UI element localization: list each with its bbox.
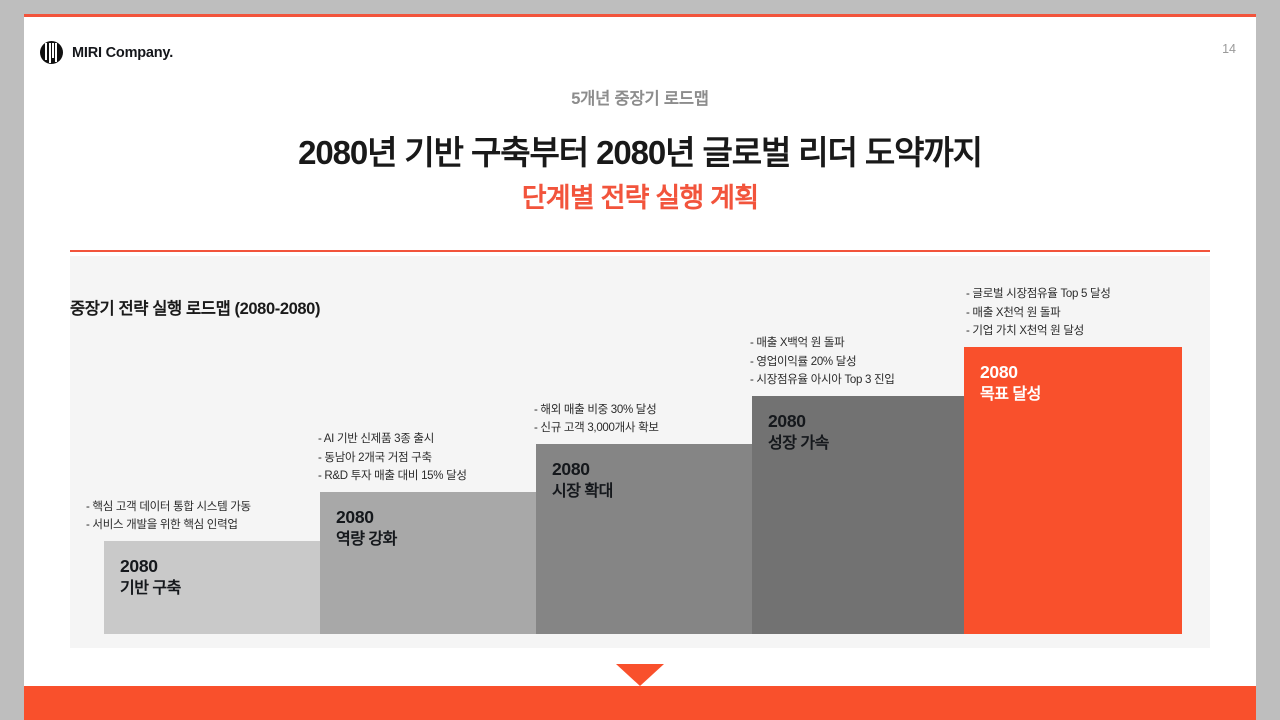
roadmap-bar-4[interactable]: 2080 성장 가속 xyxy=(752,396,970,634)
bar-2-label: 2080 역량 강화 xyxy=(336,506,397,550)
top-accent-rule xyxy=(24,14,1256,17)
roadmap-bar-1[interactable]: 2080 기반 구축 xyxy=(104,541,322,634)
bar-3-year: 2080 xyxy=(552,458,613,481)
slide-title: 2080년 기반 구축부터 2080년 글로벌 리더 도약까지 xyxy=(24,126,1256,174)
slide-canvas: MIRI Company. 14 5개년 중장기 로드맵 2080년 기반 구축… xyxy=(24,14,1256,720)
footer-notch xyxy=(616,664,664,686)
bar-3-name: 시장 확대 xyxy=(552,481,613,502)
bar-4-note-1: - 매출 X백억 원 돌파 xyxy=(750,334,895,353)
bar-3-note-2: - 신규 고객 3,000개사 확보 xyxy=(534,419,659,438)
bar-5-note-1: - 글로벌 시장점유율 Top 5 달성 xyxy=(966,285,1111,304)
bar-1-name: 기반 구축 xyxy=(120,578,181,599)
bar-5-notes: - 글로벌 시장점유율 Top 5 달성 - 매출 X천억 원 돌파 - 기업 … xyxy=(966,285,1111,341)
bar-3-label: 2080 시장 확대 xyxy=(552,458,613,502)
bar-1-note-2: - 서비스 개발을 위한 핵심 인력업 xyxy=(86,516,251,535)
roadmap-bar-2[interactable]: 2080 역량 강화 xyxy=(320,492,538,634)
bar-2-note-3: - R&D 투자 매출 대비 15% 달성 xyxy=(318,467,467,486)
roadmap-bar-3[interactable]: 2080 시장 확대 xyxy=(536,444,754,634)
bar-1-label: 2080 기반 구축 xyxy=(120,555,181,599)
bar-4-name: 성장 가속 xyxy=(768,433,829,454)
bar-4-notes: - 매출 X백억 원 돌파 - 영업이익률 20% 달성 - 시장점유율 아시아… xyxy=(750,334,895,390)
bar-5-note-2: - 매출 X천억 원 돌파 xyxy=(966,304,1111,323)
bar-1-note-1: - 핵심 고객 데이터 통합 시스템 가동 xyxy=(86,498,251,517)
bar-5-note-3: - 기업 가치 X천억 원 달성 xyxy=(966,322,1111,341)
bar-3-note-1: - 해외 매출 비중 30% 달성 xyxy=(534,401,659,420)
bar-2-note-1: - AI 기반 신제품 3종 출시 xyxy=(318,430,467,449)
brand-name: MIRI Company. xyxy=(72,45,173,61)
slide-kicker: 5개년 중장기 로드맵 xyxy=(24,85,1256,109)
bar-4-year: 2080 xyxy=(768,410,829,433)
bar-3-notes: - 해외 매출 비중 30% 달성 - 신규 고객 3,000개사 확보 xyxy=(534,401,659,438)
bar-4-label: 2080 성장 가속 xyxy=(768,410,829,454)
bar-2-year: 2080 xyxy=(336,506,397,529)
bar-4-note-3: - 시장점유율 아시아 Top 3 진입 xyxy=(750,371,895,390)
bar-1-notes: - 핵심 고객 데이터 통합 시스템 가동 - 서비스 개발을 위한 핵심 인력… xyxy=(86,498,251,535)
bar-1-year: 2080 xyxy=(120,555,181,578)
bar-2-note-2: - 동남아 2개국 거점 구축 xyxy=(318,449,467,468)
bar-4-note-2: - 영업이익률 20% 달성 xyxy=(750,353,895,372)
footer-band xyxy=(24,686,1256,720)
bar-5-label: 2080 목표 달성 xyxy=(980,361,1041,405)
bar-5-year: 2080 xyxy=(980,361,1041,384)
page-number: 14 xyxy=(1222,42,1236,56)
slide-subtitle: 단계별 전략 실행 계획 xyxy=(24,176,1256,215)
panel-title: 중장기 전략 실행 로드맵 (2080-2080) xyxy=(70,295,320,319)
brand-lockup: MIRI Company. xyxy=(40,41,173,64)
bar-2-name: 역량 강화 xyxy=(336,529,397,550)
bar-5-name: 목표 달성 xyxy=(980,384,1041,405)
miri-circle-bars-logo-icon xyxy=(40,41,63,64)
roadmap-bar-5[interactable]: 2080 목표 달성 xyxy=(964,347,1182,634)
bar-2-notes: - AI 기반 신제품 3종 출시 - 동남아 2개국 거점 구축 - R&D … xyxy=(318,430,467,486)
panel-divider-rule xyxy=(70,250,1210,252)
